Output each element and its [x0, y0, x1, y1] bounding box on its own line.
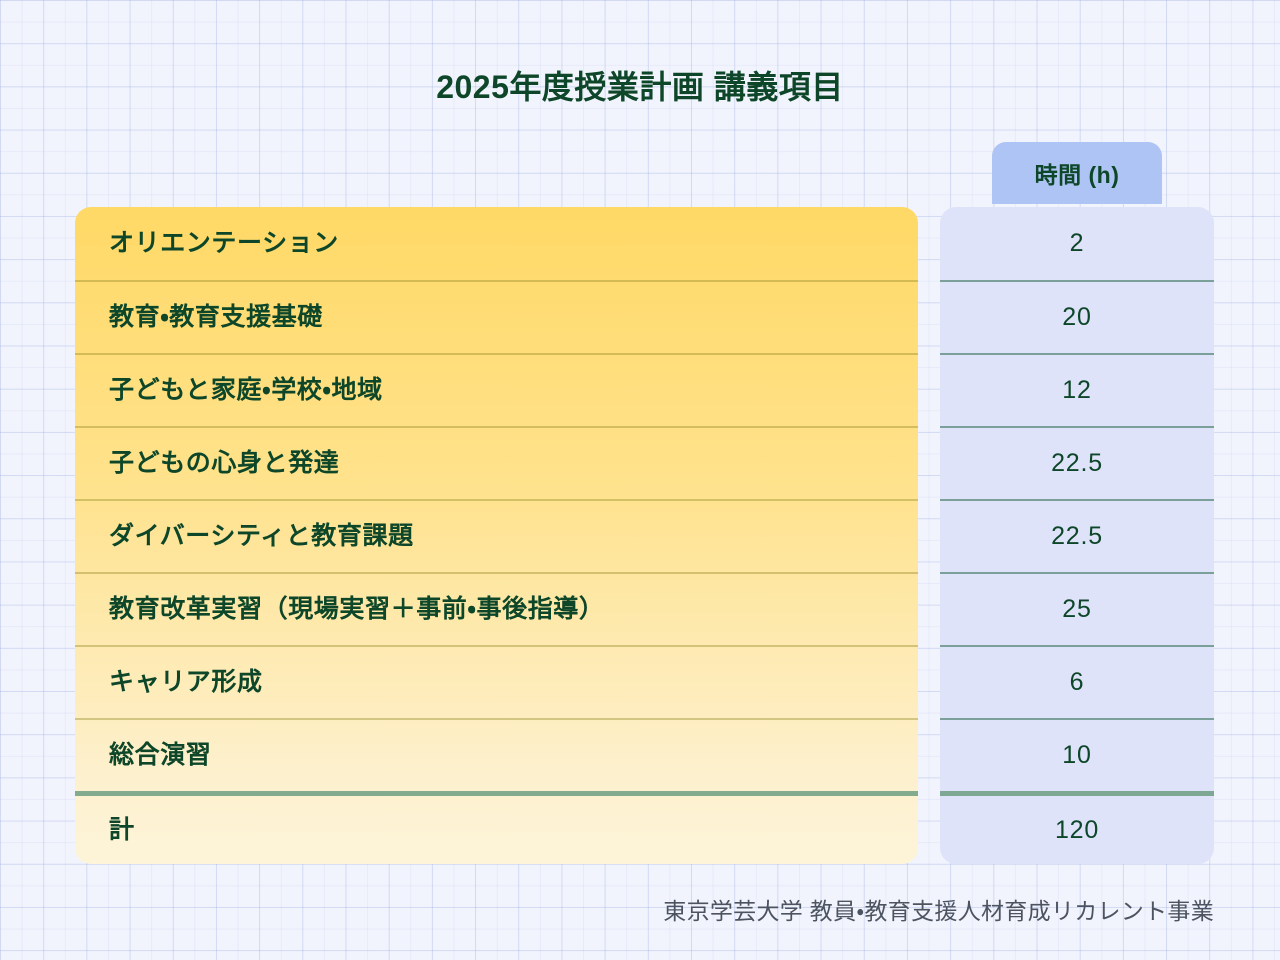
table-row-hours[interactable]: 20	[940, 280, 1214, 353]
table-row-hours[interactable]: 25	[940, 572, 1214, 645]
table-row[interactable]: 教育・教育支援基礎	[75, 280, 918, 353]
item-label: 教育・教育支援基礎	[109, 305, 323, 330]
hour-value: 25	[1062, 597, 1091, 622]
table-row[interactable]: 教育改革実習（現場実習＋事前・事後指導）	[75, 572, 918, 645]
table-row[interactable]: オリエンテーション	[75, 207, 918, 280]
items-column: オリエンテーション 教育・教育支援基礎 子どもと家庭・学校・地域 子どもの心身と…	[75, 207, 918, 864]
item-label: オリエンテーション	[109, 231, 339, 256]
table-row-hours[interactable]: 22.5	[940, 499, 1214, 572]
hours-column: 2 20 12 22.5 22.5 25 6 10 120	[940, 207, 1214, 864]
table-row-hours[interactable]: 10	[940, 718, 1214, 791]
table-row[interactable]: ダイバーシティと教育課題	[75, 499, 918, 572]
table-row[interactable]: 総合演習	[75, 718, 918, 791]
hour-value: 2	[1070, 231, 1085, 256]
hour-value: 12	[1062, 378, 1091, 403]
table-row[interactable]: 子どもと家庭・学校・地域	[75, 353, 918, 426]
page-title: 2025年度授業計画 講義項目	[0, 62, 1280, 108]
total-hour-value: 120	[1055, 818, 1099, 843]
hour-value: 6	[1070, 670, 1085, 695]
slide-root: 2025年度授業計画 講義項目 時間 (h) オリエンテーション 教育・教育支援…	[0, 0, 1280, 960]
table-row-hours[interactable]: 2	[940, 207, 1214, 280]
table-row-hours[interactable]: 22.5	[940, 426, 1214, 499]
table-total-row[interactable]: 計	[75, 791, 918, 864]
item-label: 教育改革実習（現場実習＋事前・事後指導）	[109, 597, 605, 622]
hours-column-header: 時間 (h)	[992, 142, 1162, 204]
hours-column-header-label: 時間 (h)	[1035, 156, 1120, 190]
table-total-row-hours[interactable]: 120	[940, 791, 1214, 864]
item-label: 総合演習	[109, 743, 211, 768]
table-row-hours[interactable]: 6	[940, 645, 1214, 718]
hour-value: 22.5	[1051, 451, 1103, 476]
hour-value: 20	[1062, 305, 1091, 330]
item-label: 子どもの心身と発達	[109, 451, 339, 476]
hour-value: 10	[1062, 743, 1091, 768]
item-label: ダイバーシティと教育課題	[109, 524, 414, 549]
footer-note: 東京学芸大学 教員・教育支援人材育成リカレント事業	[663, 892, 1214, 926]
hour-value: 22.5	[1051, 524, 1103, 549]
table-row[interactable]: 子どもの心身と発達	[75, 426, 918, 499]
table-row[interactable]: キャリア形成	[75, 645, 918, 718]
item-label: 子どもと家庭・学校・地域	[109, 378, 383, 403]
total-label: 計	[109, 818, 135, 843]
item-label: キャリア形成	[109, 670, 263, 695]
table-row-hours[interactable]: 12	[940, 353, 1214, 426]
